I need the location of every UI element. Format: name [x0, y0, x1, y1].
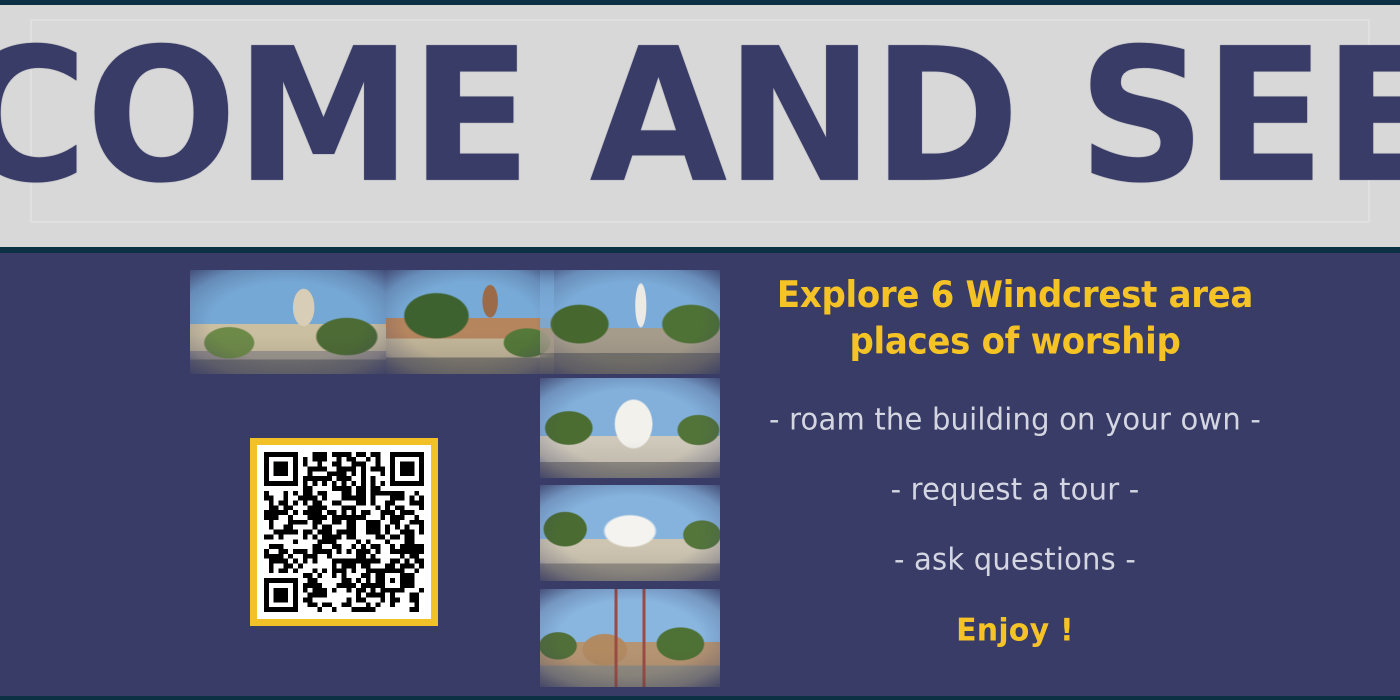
headline-line-1: Explore 6 Windcrest area — [777, 274, 1253, 316]
qr-code[interactable] — [250, 438, 438, 626]
headline-line-2: places of worship — [735, 319, 1295, 365]
photo-white-pergola-entrance — [540, 485, 720, 581]
bottom-divider-rule — [0, 696, 1400, 700]
bullet-ask-questions: - ask questions - — [735, 543, 1295, 576]
photo-church-with-tall-spire — [190, 270, 386, 374]
qr-code-icon — [264, 452, 424, 612]
poster-copy-block: Explore 6 Windcrest area places of worsh… — [735, 273, 1295, 647]
poster-body: Explore 6 Windcrest area places of worsh… — [0, 253, 1400, 700]
photo-church-with-steeple-and-oak — [386, 270, 554, 374]
poster-header-banner: COME AND SEE — [0, 5, 1400, 247]
qr-quiet-zone — [257, 445, 431, 619]
bullet-request-a-tour: - request a tour - — [735, 473, 1295, 506]
photo-church-with-modern-bell-tower — [540, 270, 720, 374]
bullet-roam-the-building: - roam the building on your own - — [735, 403, 1295, 436]
closing-message: Enjoy ! — [735, 613, 1295, 647]
page-title: COME AND SEE — [0, 5, 1400, 247]
photo-brick-church-with-crosses — [540, 589, 720, 687]
bullet-list: - roam the building on your own - - requ… — [735, 404, 1295, 647]
headline: Explore 6 Windcrest area places of worsh… — [735, 273, 1295, 365]
photo-white-gabled-chapel — [540, 378, 720, 478]
